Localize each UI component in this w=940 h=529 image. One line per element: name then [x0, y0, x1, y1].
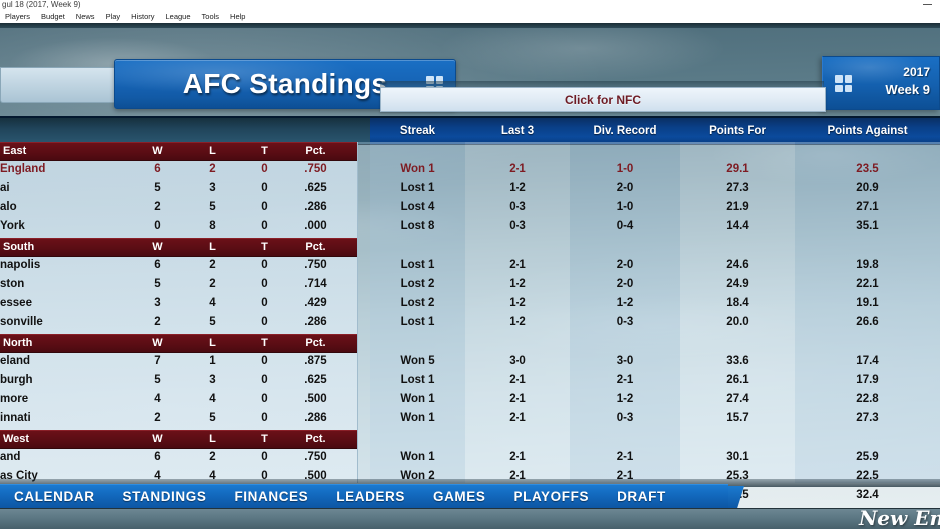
cell-last3: 1-2 — [465, 275, 570, 294]
team-name: napolis — [0, 256, 40, 275]
cell-streak: Lost 1 — [370, 179, 465, 198]
year-week-panel[interactable]: 2017 Week 9 — [822, 56, 940, 110]
table-row[interactable]: ai530.625Lost 11-22-027.320.9 — [0, 179, 940, 198]
column-header-last3[interactable]: Last 3 — [465, 118, 570, 144]
cell-pa: 17.4 — [795, 352, 940, 371]
column-header-pct[interactable]: Pct. — [283, 239, 348, 256]
team-name: innati — [0, 409, 31, 428]
column-header-pct[interactable]: Pct. — [283, 143, 348, 160]
grid-icon[interactable] — [835, 75, 852, 92]
cell-pf: 24.6 — [680, 256, 795, 275]
standings-table: EastWLTPct. England620.750Won 12-11-029.… — [0, 142, 940, 483]
team-name: England — [0, 160, 45, 179]
cell-div: 0-4 — [570, 217, 680, 236]
cell-last3: 2-1 — [465, 256, 570, 275]
team-name: alo — [0, 198, 17, 217]
cell-last3: 2-1 — [465, 409, 570, 428]
team-name: burgh — [0, 371, 33, 390]
table-row[interactable]: sonville250.286Lost 11-20-320.026.6 — [0, 313, 940, 332]
cell-last3: 0-3 — [465, 198, 570, 217]
cell-streak: Lost 4 — [370, 198, 465, 217]
nav-item-standings[interactable]: STANDINGS — [109, 485, 221, 508]
table-row[interactable]: napolis620.750Lost 12-12-024.619.8 — [0, 256, 940, 275]
menu-item-news[interactable]: News — [76, 11, 95, 23]
team-name: essee — [0, 294, 32, 313]
cell-streak: Lost 1 — [370, 371, 465, 390]
table-row[interactable]: and620.750Won 12-12-130.125.9 — [0, 448, 940, 467]
division-header-west: WestWLTPct. — [0, 430, 357, 449]
cell-streak: Lost 1 — [370, 313, 465, 332]
cell-streak: Won 1 — [370, 448, 465, 467]
cell-last3: 0-3 — [465, 217, 570, 236]
cell-div: 2-0 — [570, 256, 680, 275]
cell-pct: .286 — [283, 198, 348, 217]
division-header-east: EastWLTPct. — [0, 142, 357, 161]
cell-last3: 2-1 — [465, 448, 570, 467]
cell-pct: .875 — [283, 352, 348, 371]
cell-pa: 27.3 — [795, 409, 940, 428]
team-name: ston — [0, 275, 24, 294]
bottom-nav: CALENDARSTANDINGSFINANCESLEADERSGAMESPLA… — [0, 484, 728, 509]
cell-div: 1-0 — [570, 160, 680, 179]
cell-last3: 2-1 — [465, 160, 570, 179]
left-tab-stub[interactable] — [0, 67, 123, 103]
cell-streak: Lost 1 — [370, 256, 465, 275]
cell-pct: .286 — [283, 409, 348, 428]
cell-pf: 18.4 — [680, 294, 795, 313]
table-row[interactable]: essee340.429Lost 21-21-218.419.1 — [0, 294, 940, 313]
cell-div: 0-3 — [570, 313, 680, 332]
team-name: sonville — [0, 313, 43, 332]
cell-last3: 2-1 — [465, 371, 570, 390]
cell-streak: Won 1 — [370, 390, 465, 409]
cell-pct: .714 — [283, 275, 348, 294]
column-header-streak[interactable]: Streak — [370, 118, 465, 144]
cell-pf: 27.4 — [680, 390, 795, 409]
table-row[interactable]: ston520.714Lost 21-22-024.922.1 — [0, 275, 940, 294]
nav-item-finances[interactable]: FINANCES — [220, 485, 322, 508]
cell-div: 2-1 — [570, 448, 680, 467]
menu-item-help[interactable]: Help — [230, 11, 245, 23]
cell-streak: Won 1 — [370, 409, 465, 428]
cell-streak: Lost 2 — [370, 275, 465, 294]
cell-pct: .750 — [283, 256, 348, 275]
cell-streak: Won 5 — [370, 352, 465, 371]
cell-pa: 19.8 — [795, 256, 940, 275]
menu-item-budget[interactable]: Budget — [41, 11, 65, 23]
team-name: and — [0, 448, 20, 467]
cell-pct: .750 — [283, 160, 348, 179]
cell-pf: 21.9 — [680, 198, 795, 217]
cell-streak: Lost 8 — [370, 217, 465, 236]
cell-div: 2-0 — [570, 179, 680, 198]
cell-pa: 22.1 — [795, 275, 940, 294]
cell-pf: 15.7 — [680, 409, 795, 428]
cell-div: 1-2 — [570, 390, 680, 409]
conference-toggle-button[interactable]: Click for NFC — [380, 87, 826, 112]
table-row[interactable]: eland710.875Won 53-03-033.617.4 — [0, 352, 940, 371]
cell-last3: 1-2 — [465, 294, 570, 313]
cell-pct: .750 — [283, 448, 348, 467]
footer-strip: New En — [0, 508, 940, 529]
cell-div: 1-2 — [570, 294, 680, 313]
cell-div: 0-3 — [570, 409, 680, 428]
cell-div: 3-0 — [570, 352, 680, 371]
cell-last3: 1-2 — [465, 179, 570, 198]
column-header-pct[interactable]: Pct. — [283, 431, 348, 448]
minimize-button[interactable] — [923, 4, 932, 5]
table-row[interactable]: innati250.286Won 12-10-315.727.3 — [0, 409, 940, 428]
team-name: eland — [0, 352, 30, 371]
cell-pf: 14.4 — [680, 217, 795, 236]
division-header-south: SouthWLTPct. — [0, 238, 357, 257]
game-viewport: AFC Standings 2017 Week 9 Click for NFC … — [0, 23, 940, 529]
division-name: West — [3, 431, 29, 448]
cell-pa: 35.1 — [795, 217, 940, 236]
top-dark-band — [0, 23, 940, 28]
menu-item-play[interactable]: Play — [106, 11, 121, 23]
cell-pct: .625 — [283, 179, 348, 198]
table-row[interactable]: burgh530.625Lost 12-12-126.117.9 — [0, 371, 940, 390]
cell-pf: 27.3 — [680, 179, 795, 198]
cell-pa: 32.4 — [795, 486, 940, 505]
cell-pct: .500 — [283, 390, 348, 409]
cell-pa: 27.1 — [795, 198, 940, 217]
cell-pf: 30.1 — [680, 448, 795, 467]
column-header-pct[interactable]: Pct. — [283, 335, 348, 352]
conference-toggle-label: Click for NFC — [565, 93, 641, 107]
page-title: AFC Standings — [183, 68, 388, 100]
menu-item-players[interactable]: Players — [5, 11, 30, 23]
column-header-pa[interactable]: Points Against — [795, 118, 940, 144]
cell-pf: 33.6 — [680, 352, 795, 371]
table-row[interactable]: alo250.286Lost 40-31-021.927.1 — [0, 198, 940, 217]
menu-item-league[interactable]: League — [166, 11, 191, 23]
cell-div: 1-0 — [570, 198, 680, 217]
cell-pf: 24.9 — [680, 275, 795, 294]
menu-item-history[interactable]: History — [131, 11, 154, 23]
left-header-strip — [0, 116, 370, 145]
cell-pct: .000 — [283, 217, 348, 236]
cell-pa: 26.6 — [795, 313, 940, 332]
menubar: PlayersBudgetNewsPlayHistoryLeagueToolsH… — [0, 11, 940, 23]
nav-item-leaders[interactable]: LEADERS — [322, 485, 419, 508]
cell-pct: .625 — [283, 371, 348, 390]
cell-pa: 17.9 — [795, 371, 940, 390]
app-root: gul 18 (2017, Week 9) PlayersBudgetNewsP… — [0, 0, 940, 529]
cell-pf: 29.1 — [680, 160, 795, 179]
team-name: ai — [0, 179, 10, 198]
cell-streak: Lost 2 — [370, 294, 465, 313]
cell-last3: 3-0 — [465, 352, 570, 371]
cell-pa: 22.8 — [795, 390, 940, 409]
cell-div: 2-0 — [570, 275, 680, 294]
cell-pa: 23.5 — [795, 160, 940, 179]
window-title: gul 18 (2017, Week 9) — [2, 0, 81, 10]
cell-pa: 20.9 — [795, 179, 940, 198]
season-year: 2017 — [903, 65, 930, 79]
cell-pf: 26.1 — [680, 371, 795, 390]
cell-div: 2-1 — [570, 371, 680, 390]
column-header-div[interactable]: Div. Record — [570, 118, 680, 144]
column-header-pf[interactable]: Points For — [680, 118, 795, 144]
table-row[interactable]: England620.750Won 12-11-029.123.5 — [0, 160, 940, 179]
division-name: East — [3, 143, 26, 160]
cell-last3: 2-1 — [465, 390, 570, 409]
cell-pf: 20.0 — [680, 313, 795, 332]
cell-pct: .286 — [283, 313, 348, 332]
cell-streak: Won 1 — [370, 160, 465, 179]
cell-pa: 19.1 — [795, 294, 940, 313]
column-header-strip: StreakLast 3Div. RecordPoints ForPoints … — [370, 116, 940, 145]
table-row[interactable]: York080.000Lost 80-30-414.435.1 — [0, 217, 940, 236]
division-header-north: NorthWLTPct. — [0, 334, 357, 353]
team-logo-text: New En — [859, 507, 940, 529]
team-name: York — [0, 217, 25, 236]
nav-item-games[interactable]: GAMES — [419, 485, 500, 508]
division-name: North — [3, 335, 32, 352]
cell-pct: .429 — [283, 294, 348, 313]
nav-item-draft[interactable]: DRAFT — [603, 485, 680, 508]
menu-item-tools[interactable]: Tools — [202, 11, 220, 23]
nav-item-playoffs[interactable]: PLAYOFFS — [500, 485, 604, 508]
nav-item-calendar[interactable]: CALENDAR — [0, 485, 109, 508]
cell-pa: 25.9 — [795, 448, 940, 467]
season-week: Week 9 — [885, 82, 930, 97]
table-row[interactable]: more440.500Won 12-11-227.422.8 — [0, 390, 940, 409]
division-name: South — [3, 239, 34, 256]
team-name: more — [0, 390, 28, 409]
cell-last3: 1-2 — [465, 313, 570, 332]
